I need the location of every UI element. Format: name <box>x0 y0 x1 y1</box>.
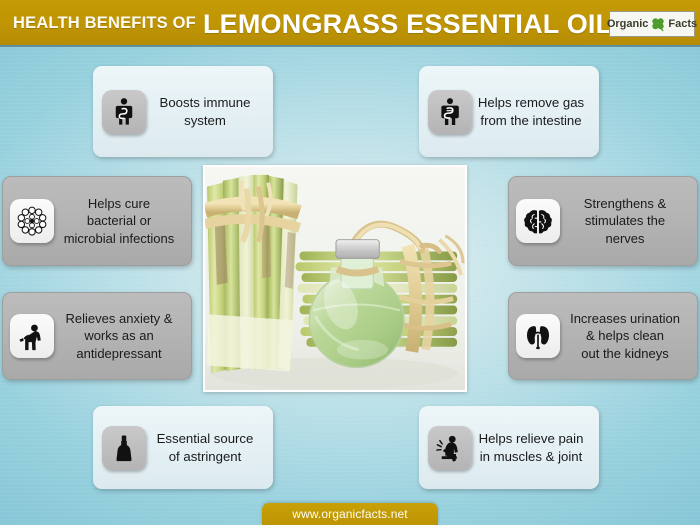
benefit-line: antidepressant <box>58 345 180 362</box>
kneeling-person-pain-icon <box>428 426 472 470</box>
benefit-card-astringent-text: Essential source of astringent <box>146 430 264 465</box>
benefit-line: Helps remove gas <box>476 94 586 111</box>
benefit-card-bacterial-text: Helps cure bacterial or microbial infect… <box>54 195 184 246</box>
benefit-line: Boosts immune <box>150 94 260 111</box>
kidneys-icon <box>516 314 560 358</box>
benefit-card-bacterial[interactable]: Helps cure bacterial or microbial infect… <box>2 176 192 266</box>
benefit-line: & helps clean <box>564 327 686 344</box>
depressed-person-icon <box>10 314 54 358</box>
benefit-line: Relieves anxiety & <box>58 310 180 327</box>
benefit-card-kidneys[interactable]: Increases urination & helps clean out th… <box>508 292 698 380</box>
benefit-line: Helps relieve pain <box>476 430 586 447</box>
benefit-line: microbial infections <box>58 230 180 247</box>
benefit-line: bacterial or <box>58 212 180 229</box>
benefit-line: Strengthens & <box>564 195 686 212</box>
benefit-line: stimulates the <box>564 212 686 229</box>
benefit-line: nerves <box>564 230 686 247</box>
organic-facts-logo[interactable]: Organic Facts <box>609 11 695 37</box>
benefit-line: from the intestine <box>476 112 586 129</box>
benefit-line: Increases urination <box>564 310 686 327</box>
benefit-card-nerves[interactable]: Strengthens & stimulates the nerves <box>508 176 698 266</box>
logo-word-facts: Facts <box>668 19 697 30</box>
benefit-line: of astringent <box>150 448 260 465</box>
benefit-card-immune-text: Boosts immune system <box>146 94 264 129</box>
title-main: LEMONGRASS ESSENTIAL OIL <box>203 9 612 40</box>
benefit-line: out the kidneys <box>564 345 686 362</box>
digestive-torso-icon <box>102 90 146 134</box>
page-title: HEALTH BENEFITS OF LEMONGRASS ESSENTIAL … <box>13 0 612 47</box>
footer-url-bar[interactable]: www.organicfacts.net <box>262 503 438 525</box>
benefit-line: system <box>150 112 260 129</box>
header-bar: HEALTH BENEFITS OF LEMONGRASS ESSENTIAL … <box>0 0 700 47</box>
benefit-card-immune[interactable]: Boosts immune system <box>93 66 273 157</box>
title-prefix: HEALTH BENEFITS OF <box>13 14 196 33</box>
logo-word-organic: Organic <box>607 19 649 30</box>
benefit-card-gas[interactable]: Helps remove gas from the intestine <box>419 66 599 157</box>
footer-url-text: www.organicfacts.net <box>292 507 407 521</box>
lemongrass-oil-photo <box>203 165 467 392</box>
benefit-line: in muscles & joint <box>476 448 586 465</box>
clover-icon <box>650 16 666 32</box>
brain-icon <box>516 199 560 243</box>
benefit-card-kidneys-text: Increases urination & helps clean out th… <box>560 310 690 361</box>
benefit-card-gas-text: Helps remove gas from the intestine <box>472 94 590 129</box>
benefit-card-muscle-text: Helps relieve pain in muscles & joint <box>472 430 590 465</box>
benefit-line: Essential source <box>150 430 260 447</box>
intestine-torso-icon <box>428 90 472 134</box>
microbe-icon <box>10 199 54 243</box>
benefit-line: works as an <box>58 327 180 344</box>
benefit-card-anxiety-text: Relieves anxiety & works as an antidepre… <box>54 310 184 361</box>
benefit-line: Helps cure <box>58 195 180 212</box>
bottle-icon <box>102 426 146 470</box>
benefit-card-muscle[interactable]: Helps relieve pain in muscles & joint <box>419 406 599 489</box>
infographic-canvas: HEALTH BENEFITS OF LEMONGRASS ESSENTIAL … <box>0 0 700 525</box>
benefit-card-astringent[interactable]: Essential source of astringent <box>93 406 273 489</box>
benefit-card-anxiety[interactable]: Relieves anxiety & works as an antidepre… <box>2 292 192 380</box>
benefit-card-nerves-text: Strengthens & stimulates the nerves <box>560 195 690 246</box>
